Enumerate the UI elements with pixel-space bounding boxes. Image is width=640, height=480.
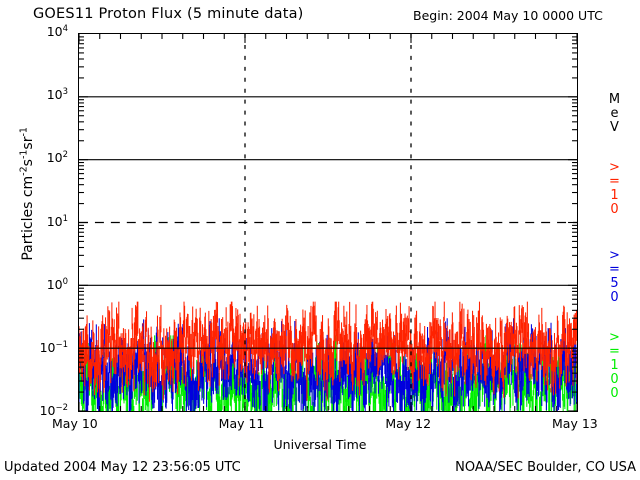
- y-tick-label-1e4: 104: [0, 24, 72, 39]
- source-attribution: NOAA/SEC Boulder, CO USA: [455, 460, 636, 475]
- x-tick-label-may-12: May 12: [385, 416, 431, 431]
- axis-ticks: [79, 34, 577, 411]
- x-axis-title: Universal Time: [0, 437, 640, 452]
- updated-timestamp: Updated 2004 May 12 23:56:05 UTC: [4, 460, 241, 475]
- begin-time-label: Begin: 2004 May 10 0000 UTC: [413, 8, 603, 23]
- legend-entry-50mev: >=50: [600, 248, 622, 304]
- page-title: GOES11 Proton Flux (5 minute data): [33, 6, 304, 22]
- legend-entry-10mev: >=10: [600, 160, 622, 216]
- y-tick-label-1e-1: 10−1: [0, 340, 72, 355]
- legend-entry-100mev: >=100: [600, 330, 622, 400]
- y-tick-label-1e1: 101: [0, 214, 72, 229]
- x-tick-label-may-11: May 11: [219, 416, 265, 431]
- x-tick-label-may-10: May 10: [52, 416, 98, 431]
- y-tick-label-1e0: 100: [0, 277, 72, 292]
- y-axis-title-text: Particles cm-2s-1sr-1: [20, 127, 36, 261]
- y-axis-title: Particles cm-2s-1sr-1: [18, 79, 36, 309]
- x-tick-label-may-13: May 13: [552, 416, 598, 431]
- y-tick-label-1e2: 102: [0, 150, 72, 165]
- legend-unit-mev: MeV: [600, 92, 622, 134]
- y-tick-label-1e3: 103: [0, 87, 72, 102]
- plot-area: [78, 33, 578, 412]
